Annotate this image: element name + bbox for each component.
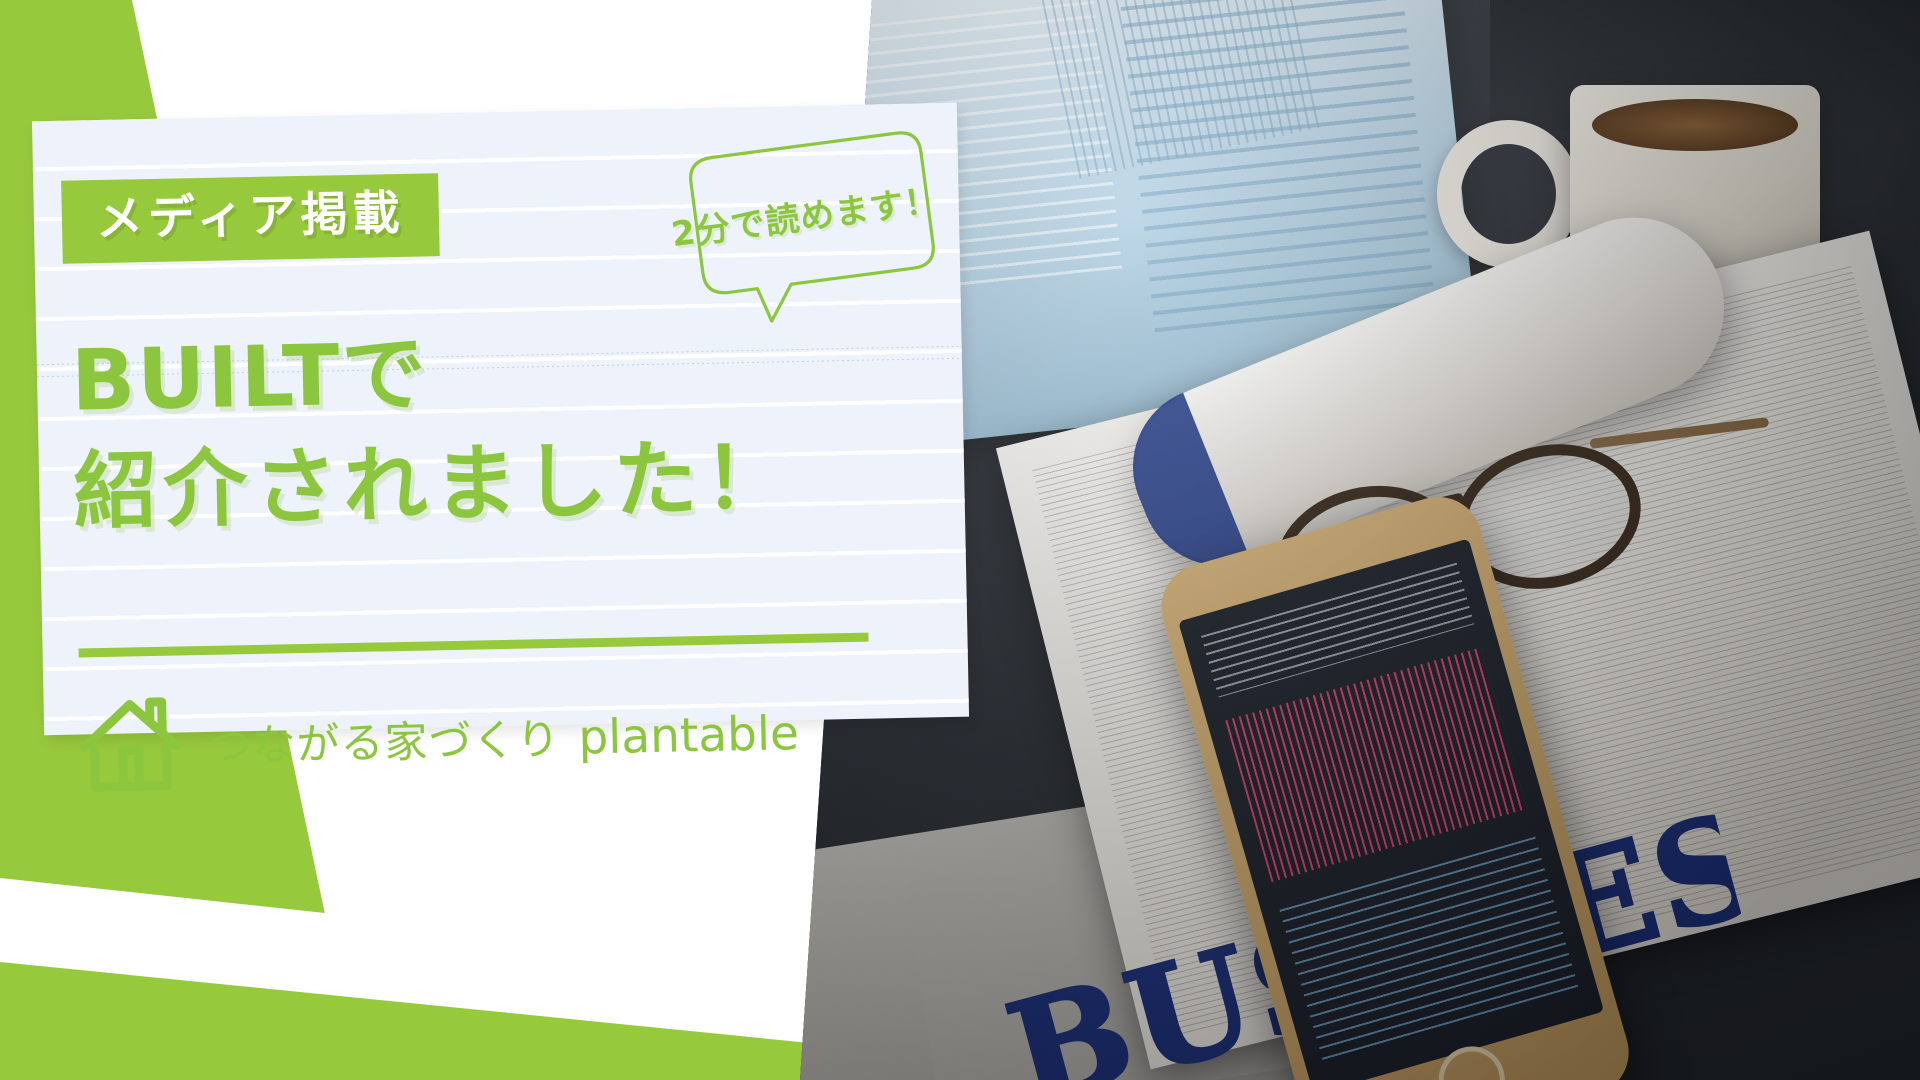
brand-tagline: つながる家づくり xyxy=(208,705,561,774)
photo-screen-chart xyxy=(1038,0,1324,179)
page-title-line-2: 紹介されました！ xyxy=(72,422,794,547)
brand-text: つながる家づくり plantable xyxy=(208,700,800,774)
media-coverage-badge: メディア掲載 xyxy=(61,173,439,264)
house-icon xyxy=(77,693,183,795)
page-title: BUILTで 紹介されました！ xyxy=(70,311,794,547)
banner-canvas: BUSINESS xyxy=(0,0,1920,1080)
photo-phone-price-chart xyxy=(1225,647,1527,881)
title-underline xyxy=(79,633,869,658)
brand-lockup: つながる家づくり plantable xyxy=(77,681,799,795)
hero-photo: BUSINESS xyxy=(800,0,1920,1080)
brand-name: plantable xyxy=(578,706,800,765)
reading-time-bubble: 2分で読めます！ xyxy=(661,118,949,341)
photo-phone-table xyxy=(1280,837,1579,1062)
